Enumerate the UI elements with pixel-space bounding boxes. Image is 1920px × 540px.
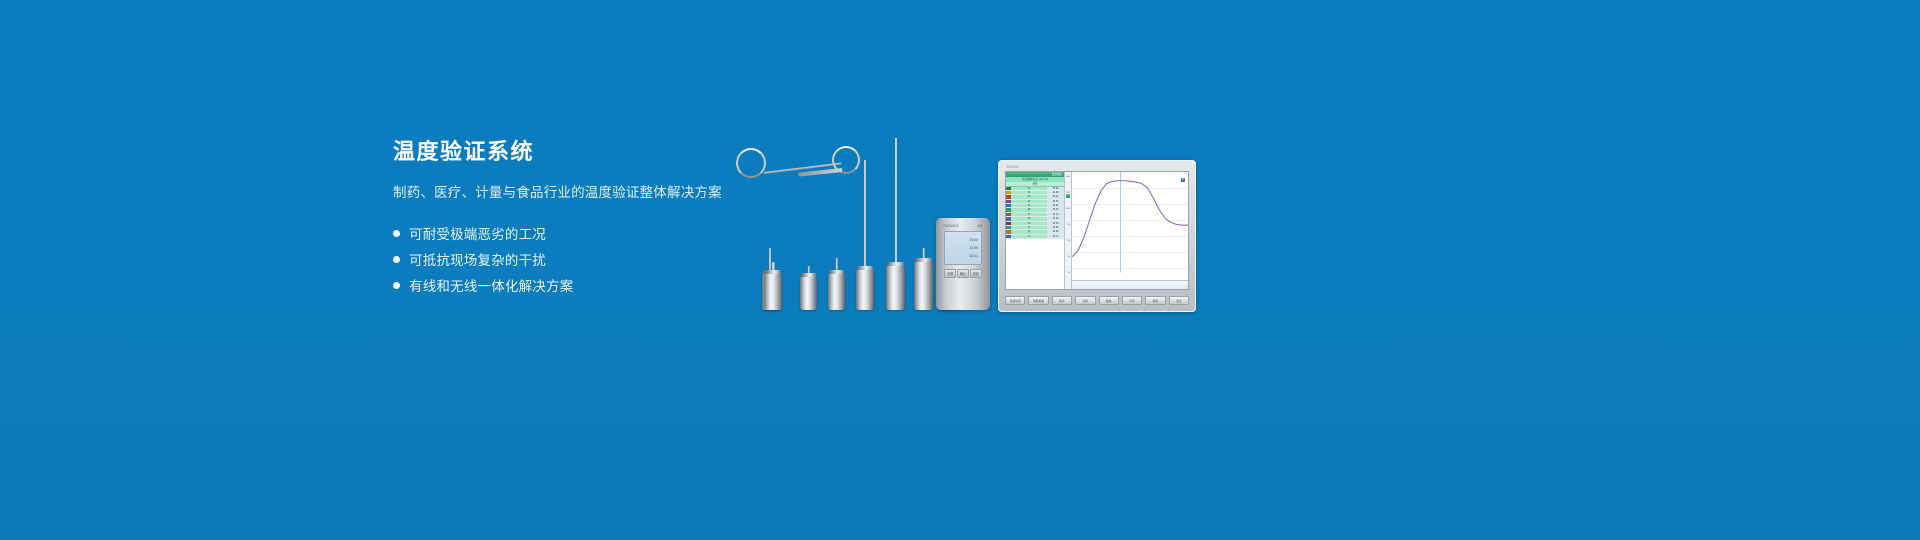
channel-id-cell: 11 bbox=[1011, 230, 1047, 233]
bullet-dot-icon bbox=[393, 230, 400, 237]
channel-id-cell: 04 bbox=[1011, 200, 1047, 203]
channel-table[interactable]: 0125.030224.980325.110425.070524.920625.… bbox=[1006, 187, 1064, 240]
channel-value-cell: 25.14 bbox=[1047, 213, 1064, 216]
chart-x-axis bbox=[1072, 280, 1188, 289]
handheld-reading-2: 24.96 bbox=[970, 246, 979, 250]
handheld-reader-device[interactable]: INONIKE M1 25.08 24.96 25.01 设置 确认 返回 bbox=[936, 218, 990, 310]
monitor-btn-print[interactable]: 打印 bbox=[1122, 296, 1142, 305]
channel-id-cell: 09 bbox=[1011, 222, 1047, 225]
monitor-btn-system-settings[interactable]: 系统设置 bbox=[1005, 296, 1025, 305]
channel-value-cell: 25.08 bbox=[1047, 226, 1064, 229]
table-row[interactable]: 1225.10 bbox=[1006, 235, 1064, 239]
channel-value-cell: 24.98 bbox=[1047, 191, 1064, 194]
chart-y-axis: 140 120 100 80 60 40 20 bbox=[1064, 172, 1072, 289]
channel-id-cell: 07 bbox=[1011, 213, 1047, 216]
validation-monitor: INON 温度验证 验证数据记录 2021-05 通道 0125.030224.… bbox=[998, 160, 1196, 312]
y-tick-label: 60 bbox=[1068, 240, 1070, 242]
y-tick-label: 40 bbox=[1068, 256, 1070, 258]
channel-id-cell: 05 bbox=[1011, 204, 1047, 207]
monitor-button-row[interactable]: 系统设置 数据采集 报表 分析 曲线 打印 帮助 退出 bbox=[1005, 294, 1189, 307]
channel-value-cell: 24.99 bbox=[1047, 217, 1064, 220]
needle-probe-long-a bbox=[856, 160, 874, 310]
channel-value-cell: 25.11 bbox=[1047, 195, 1064, 198]
channel-id-cell: 03 bbox=[1011, 195, 1047, 198]
channel-value-cell: 25.02 bbox=[1047, 222, 1064, 225]
channel-id-cell: 02 bbox=[1011, 191, 1047, 194]
channel-value-cell: 25.10 bbox=[1047, 235, 1064, 238]
monitor-btn-data-acquisition[interactable]: 数据采集 bbox=[1028, 296, 1048, 305]
y-tick-label: 140 bbox=[1066, 176, 1070, 178]
monitor-btn-help[interactable]: 帮助 bbox=[1145, 296, 1165, 305]
handheld-brand-label: INONIKE bbox=[943, 224, 959, 228]
data-logger-2 bbox=[800, 266, 817, 310]
monitor-btn-exit[interactable]: 退出 bbox=[1169, 296, 1189, 305]
coil-ring-icon bbox=[736, 148, 766, 178]
bullet-dot-icon bbox=[393, 282, 400, 289]
handheld-key-confirm[interactable]: 确认 bbox=[957, 269, 969, 278]
handheld-key-back[interactable]: 返回 bbox=[970, 269, 982, 278]
channel-id-cell: 10 bbox=[1011, 226, 1047, 229]
software-data-panel: 温度验证 验证数据记录 2021-05 通道 0125.030224.98032… bbox=[1006, 172, 1064, 289]
monitor-btn-analysis[interactable]: 分析 bbox=[1075, 296, 1095, 305]
channel-id-cell: 06 bbox=[1011, 208, 1047, 211]
chart-series-path bbox=[1072, 172, 1188, 289]
channel-value-cell: 24.92 bbox=[1047, 204, 1064, 207]
handheld-model-label: M1 bbox=[978, 224, 983, 228]
channel-id-cell: 08 bbox=[1011, 217, 1047, 220]
monitor-brand-label: INON bbox=[1007, 164, 1019, 169]
handheld-keypad[interactable]: 设置 确认 返回 bbox=[944, 269, 982, 278]
monitor-btn-report[interactable]: 报表 bbox=[1052, 296, 1072, 305]
data-logger-tall bbox=[914, 248, 933, 310]
channel-value-cell: 25.03 bbox=[1047, 187, 1064, 190]
marker-a-badge[interactable]: A bbox=[1066, 194, 1070, 198]
bullet-label: 可抵抗现场复杂的干扰 bbox=[409, 249, 546, 269]
data-logger-1 bbox=[764, 262, 782, 310]
data-logger-3 bbox=[828, 258, 845, 310]
y-tick-label: 20 bbox=[1068, 272, 1070, 274]
y-tick-label: 80 bbox=[1068, 224, 1070, 226]
handheld-key-settings[interactable]: 设置 bbox=[944, 269, 956, 278]
channel-id-cell: 01 bbox=[1011, 187, 1047, 190]
needle-probe-long-b bbox=[886, 138, 905, 310]
channel-value-cell: 24.95 bbox=[1047, 230, 1064, 233]
product-photo-group: INONIKE M1 25.08 24.96 25.01 设置 确认 返回 IN… bbox=[700, 120, 1260, 310]
channel-value-cell: 25.05 bbox=[1047, 208, 1064, 211]
channel-id-cell: 12 bbox=[1011, 235, 1047, 238]
monitor-btn-curve[interactable]: 曲线 bbox=[1099, 296, 1119, 305]
handheld-reading-1: 25.08 bbox=[970, 238, 979, 242]
handheld-brand-row: INONIKE M1 bbox=[941, 223, 985, 228]
bullet-label: 有线和无线一体化解决方案 bbox=[409, 275, 573, 295]
probe-lead-wire bbox=[798, 168, 842, 177]
monitor-screen: 温度验证 验证数据记录 2021-05 通道 0125.030224.98032… bbox=[1005, 171, 1189, 290]
bullet-dot-icon bbox=[393, 256, 400, 263]
channel-value-cell: 25.07 bbox=[1047, 200, 1064, 203]
handheld-screen: 25.08 24.96 25.01 bbox=[944, 231, 982, 265]
temperature-chart: A B bbox=[1072, 172, 1188, 289]
marker-b-badge[interactable]: B bbox=[1181, 178, 1185, 182]
y-tick-label: 100 bbox=[1066, 208, 1070, 210]
bullet-label: 可耐受极端恶劣的工况 bbox=[409, 223, 546, 243]
hero-banner: 温度验证系统 制药、医疗、计量与食品行业的温度验证整体解决方案 可耐受极端恶劣的… bbox=[0, 0, 1920, 540]
handheld-reading-3: 25.01 bbox=[970, 254, 979, 258]
